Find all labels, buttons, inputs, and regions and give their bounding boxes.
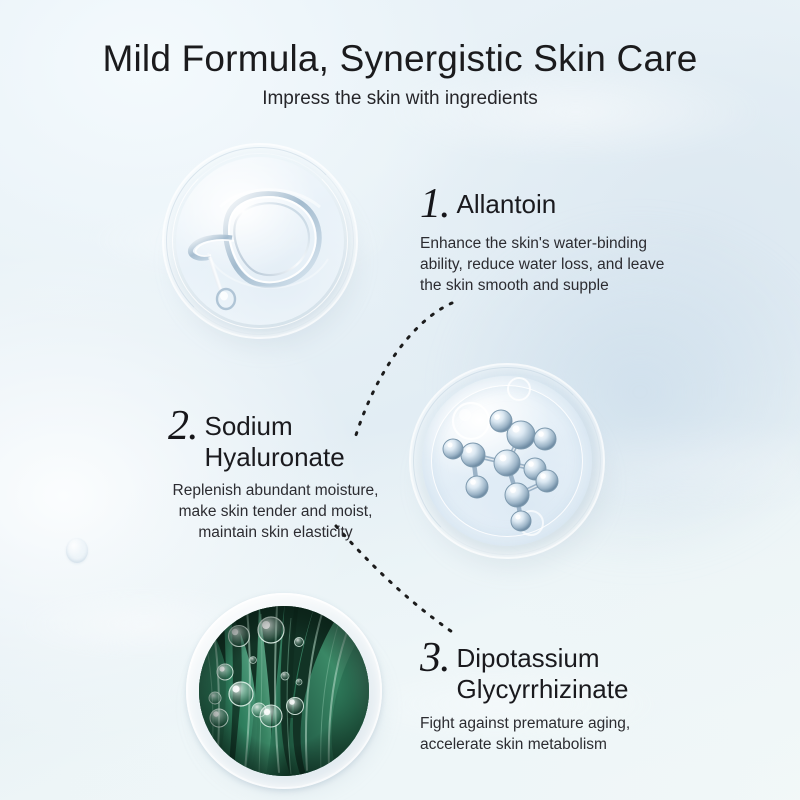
ingredient-heading: 1. Allantoin <box>420 186 670 222</box>
water-droplet-icon <box>66 538 88 563</box>
page-subtitle: Impress the skin with ingredients <box>0 88 800 110</box>
ingredient-heading: 2. Sodium Hyaluronate <box>168 408 383 473</box>
ingredient-heading: 3. Dipotassium Glycyrrhizinate <box>420 640 690 705</box>
infographic-poster: Mild Formula, Synergistic Skin Care Impr… <box>0 0 800 800</box>
ingredient-block-allantoin: 1. Allantoin Enhance the skin's water-bi… <box>420 186 670 296</box>
ingredient-description: Fight against premature aging, accelerat… <box>420 713 690 755</box>
ingredient-name: Allantoin <box>457 186 557 220</box>
dish-rim <box>409 363 605 559</box>
page-title: Mild Formula, Synergistic Skin Care <box>0 38 800 80</box>
dish-rim-highlight <box>186 593 382 789</box>
ingredient-description: Enhance the skin's water-binding ability… <box>420 233 670 296</box>
dish-rim <box>162 143 358 339</box>
petri-dish-sodium-hyaluronate <box>409 363 605 559</box>
ingredient-number: 3. <box>420 640 450 676</box>
ingredient-block-sodium-hyaluronate: 2. Sodium Hyaluronate Replenish abundant… <box>168 408 383 543</box>
ingredient-block-dipotassium-glycyrrhizinate: 3. Dipotassium Glycyrrhizinate Fight aga… <box>420 640 690 755</box>
petri-dish-dipotassium-glycyrrhizinate <box>186 593 382 789</box>
ingredient-name: Sodium Hyaluronate <box>205 408 384 473</box>
ingredient-description: Replenish abundant moisture, make skin t… <box>168 480 383 543</box>
petri-dish-allantoin <box>162 143 358 339</box>
ingredient-name: Dipotassium Glycyrrhizinate <box>457 640 691 705</box>
ingredient-number: 1. <box>420 186 450 222</box>
ingredient-number: 2. <box>168 408 198 444</box>
